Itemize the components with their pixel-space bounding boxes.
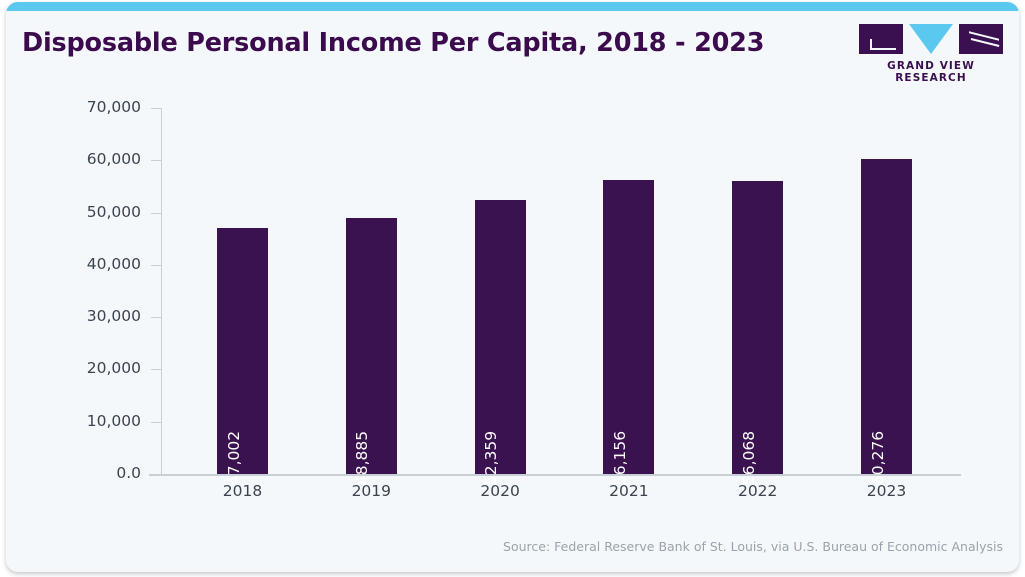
top-accent-bar bbox=[6, 2, 1019, 11]
bar-value-label: 47,002 bbox=[225, 431, 243, 485]
bar-value-label: 48,885 bbox=[353, 431, 371, 485]
y-tick-mark bbox=[151, 317, 161, 318]
y-tick-label: 50,000 bbox=[87, 203, 141, 221]
y-tick-mark bbox=[151, 265, 161, 266]
y-tick-mark bbox=[151, 369, 161, 370]
y-tick-mark bbox=[151, 474, 161, 475]
logo-r-icon bbox=[959, 24, 1003, 54]
y-tick-mark bbox=[151, 108, 161, 109]
x-tick-label: 2020 bbox=[440, 482, 560, 500]
logo-wordmark: GRAND VIEW RESEARCH bbox=[859, 60, 1003, 84]
bar[interactable]: 47,002 bbox=[217, 228, 268, 474]
x-tick-label: 2021 bbox=[569, 482, 689, 500]
bar[interactable]: 56,156 bbox=[603, 180, 654, 474]
y-tick-label: 10,000 bbox=[87, 412, 141, 430]
x-tick-label: 2019 bbox=[311, 482, 431, 500]
x-tick-label: 2022 bbox=[698, 482, 818, 500]
source-note: Source: Federal Reserve Bank of St. Loui… bbox=[503, 539, 1003, 554]
y-tick-label: 30,000 bbox=[87, 307, 141, 325]
bar[interactable]: 48,885 bbox=[346, 218, 397, 474]
bar-value-label: 52,359 bbox=[482, 431, 500, 485]
bar-value-label: 60,276 bbox=[869, 431, 887, 485]
x-tick-label: 2018 bbox=[183, 482, 303, 500]
chart-card: Disposable Personal Income Per Capita, 2… bbox=[6, 2, 1019, 572]
page-title: Disposable Personal Income Per Capita, 2… bbox=[22, 28, 764, 58]
logo-v-triangle-icon bbox=[909, 24, 953, 54]
y-tick-label: 20,000 bbox=[87, 359, 141, 377]
y-tick-label: 0.0 bbox=[116, 464, 141, 482]
bar[interactable]: 60,276 bbox=[861, 159, 912, 474]
bar-value-label: 56,156 bbox=[611, 431, 629, 485]
logo-marks bbox=[859, 24, 1003, 54]
plot-area: 47,00248,88552,35956,15656,06860,276 bbox=[161, 108, 961, 474]
bar-value-label: 56,068 bbox=[740, 431, 758, 485]
y-tick-mark bbox=[151, 213, 161, 214]
x-tick-label: 2023 bbox=[827, 482, 947, 500]
y-tick-mark bbox=[151, 422, 161, 423]
brand-logo: GRAND VIEW RESEARCH bbox=[859, 24, 1003, 74]
x-axis-line bbox=[149, 474, 961, 476]
y-tick-label: 60,000 bbox=[87, 150, 141, 168]
bar[interactable]: 56,068 bbox=[732, 181, 783, 474]
logo-g-icon bbox=[859, 24, 903, 54]
y-tick-label: 40,000 bbox=[87, 255, 141, 273]
bar[interactable]: 52,359 bbox=[475, 200, 526, 474]
y-tick-label: 70,000 bbox=[87, 98, 141, 116]
y-tick-mark bbox=[151, 160, 161, 161]
